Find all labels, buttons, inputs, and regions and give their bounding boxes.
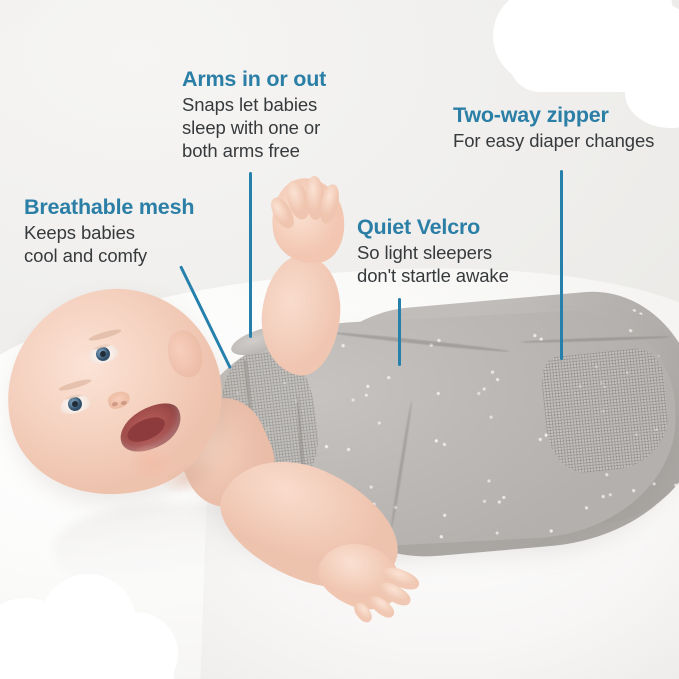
- callout-description: Keeps babies cool and comfy: [24, 222, 194, 268]
- baby-nostril: [120, 400, 127, 405]
- callout-line-quiet-velcro: [398, 298, 401, 366]
- callout-description: Snaps let babies sleep with one or both …: [182, 94, 326, 163]
- callout-quiet-velcro: Quiet Velcro So light sleepers don't sta…: [357, 215, 509, 288]
- callout-description: For easy diaper changes: [453, 130, 654, 153]
- callout-title: Two-way zipper: [453, 103, 654, 127]
- callout-title: Breathable mesh: [24, 195, 194, 219]
- product-photo: [0, 0, 679, 679]
- callout-breathable-mesh: Breathable mesh Keeps babies cool and co…: [24, 195, 194, 268]
- callout-title: Arms in or out: [182, 67, 326, 91]
- callout-line-two-way-zipper: [560, 170, 563, 360]
- product-feature-callout-image: Arms in or out Snaps let babies sleep wi…: [0, 0, 679, 679]
- callout-line-arms-in-or-out: [249, 172, 252, 338]
- callout-arms-in-or-out: Arms in or out Snaps let babies sleep wi…: [182, 67, 326, 163]
- callout-title: Quiet Velcro: [357, 215, 509, 239]
- baby-nostril: [111, 401, 118, 406]
- callout-two-way-zipper: Two-way zipper For easy diaper changes: [453, 103, 654, 153]
- callout-description: So light sleepers don't startle awake: [357, 242, 509, 288]
